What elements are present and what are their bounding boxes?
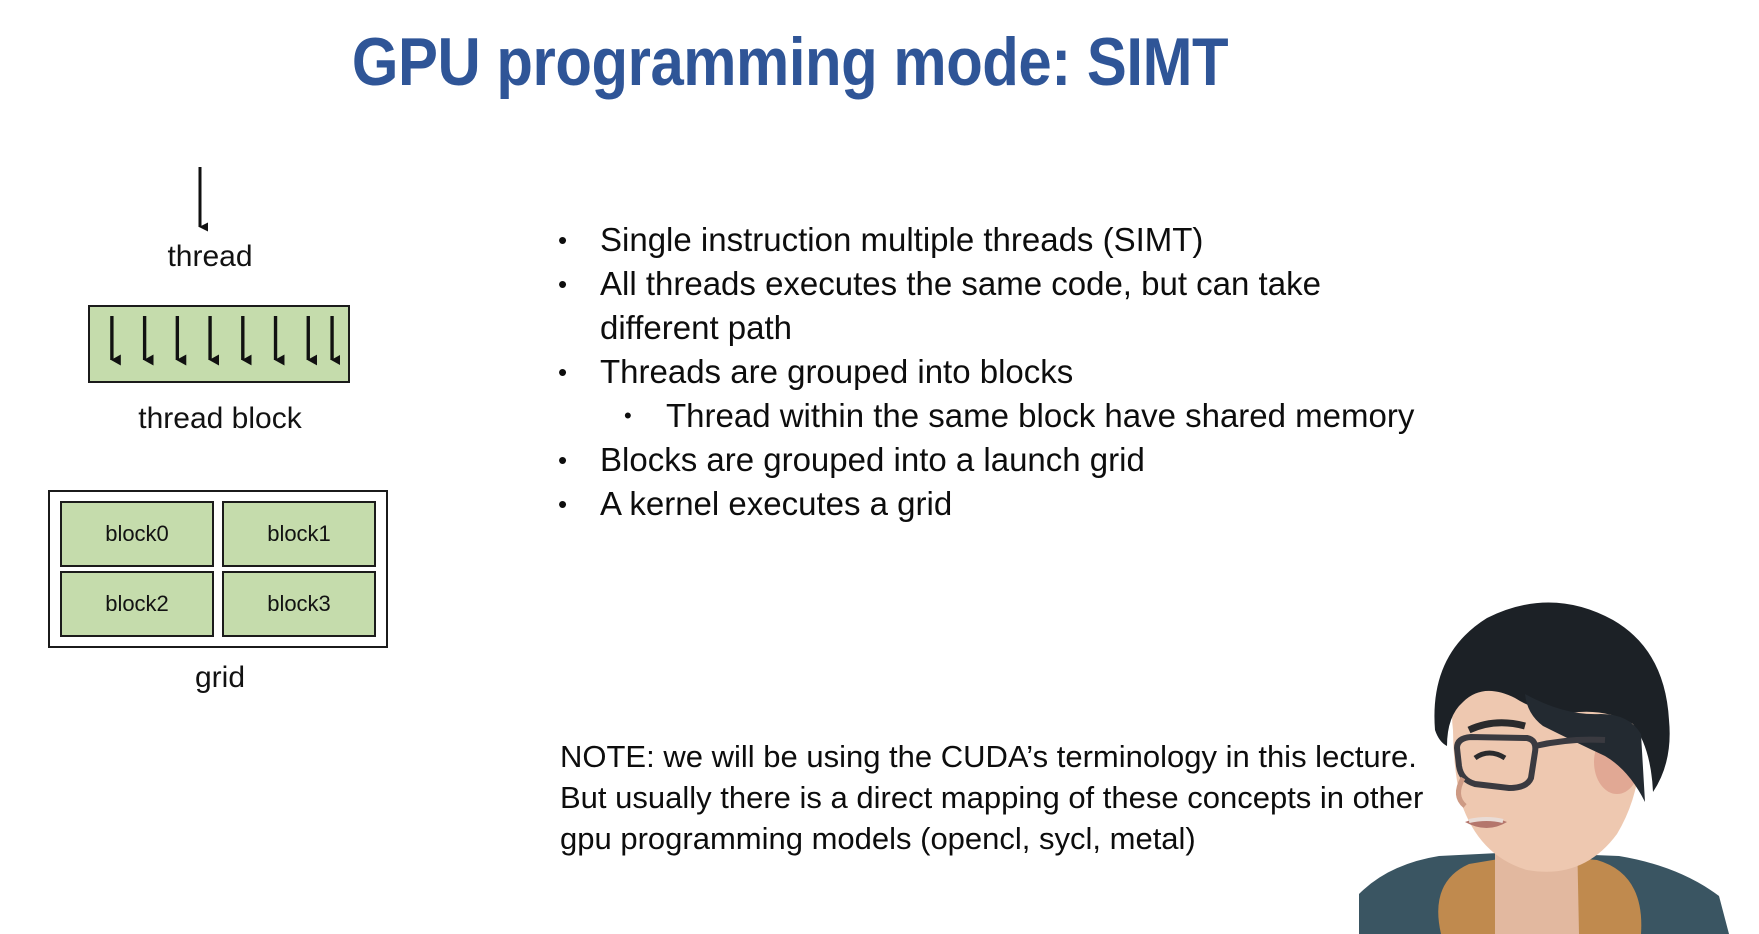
bullet-item: •A kernel executes a grid (558, 482, 1478, 526)
bullet-item: •Threads are grouped into blocks (558, 350, 1478, 394)
slide-canvas: GPU programming mode: SIMT thread (0, 0, 1759, 934)
note-line-3: gpu programming models (opencl, sycl, me… (560, 818, 1460, 859)
bullet-label: different path (600, 306, 1478, 350)
thread-block-arrows (98, 310, 340, 378)
grid-block-1: block1 (222, 501, 376, 567)
bullet-label: Thread within the same block have shared… (666, 394, 1478, 438)
bullet-label: A kernel executes a grid (600, 482, 1478, 526)
note-block: NOTE: we will be using the CUDA’s termin… (560, 736, 1460, 859)
bullet-marker-icon: • (558, 482, 600, 526)
thread-arrow-group (150, 165, 270, 240)
grid-block-2: block2 (60, 571, 214, 637)
grid-caption: grid (110, 660, 330, 696)
grid-block-0: block0 (60, 501, 214, 567)
thread-block-caption: thread block (60, 401, 380, 437)
thread-caption: thread (100, 239, 320, 275)
note-line-2: But usually there is a direct mapping of… (560, 777, 1460, 818)
bullet-list: •Single instruction multiple threads (SI… (558, 218, 1478, 526)
bullet-label: All threads executes the same code, but … (600, 262, 1478, 306)
presenter-video-overlay[interactable] (1329, 534, 1759, 934)
bullet-marker-icon: • (558, 438, 600, 482)
grid-block-3: block3 (222, 571, 376, 637)
bullet-marker-icon: • (558, 262, 600, 306)
bullet-label: Threads are grouped into blocks (600, 350, 1478, 394)
down-arrow-icon (150, 165, 270, 240)
note-line-1: NOTE: we will be using the CUDA’s termin… (560, 736, 1460, 777)
bullet-item: •All threads executes the same code, but… (558, 262, 1478, 306)
bullet-label: Single instruction multiple threads (SIM… (600, 218, 1478, 262)
bullet-marker-icon: • (558, 350, 600, 394)
bullet-item: •Single instruction multiple threads (SI… (558, 218, 1478, 262)
thread-block-box (88, 305, 350, 383)
grid-box: block0 block1 block2 block3 (48, 490, 388, 648)
bullet-marker-icon: • (624, 394, 666, 438)
page-title: GPU programming mode: SIMT (95, 20, 1485, 104)
bullet-label: Blocks are grouped into a launch grid (600, 438, 1478, 482)
bullet-item: •Thread within the same block have share… (624, 394, 1478, 438)
bullet-marker-icon: • (558, 218, 600, 262)
bullet-item: different path (558, 306, 1478, 350)
teeth-shape (1469, 819, 1503, 821)
simt-diagram: thread (0, 165, 470, 785)
bullet-item: •Blocks are grouped into a launch grid (558, 438, 1478, 482)
presenter-avatar (1329, 534, 1759, 934)
